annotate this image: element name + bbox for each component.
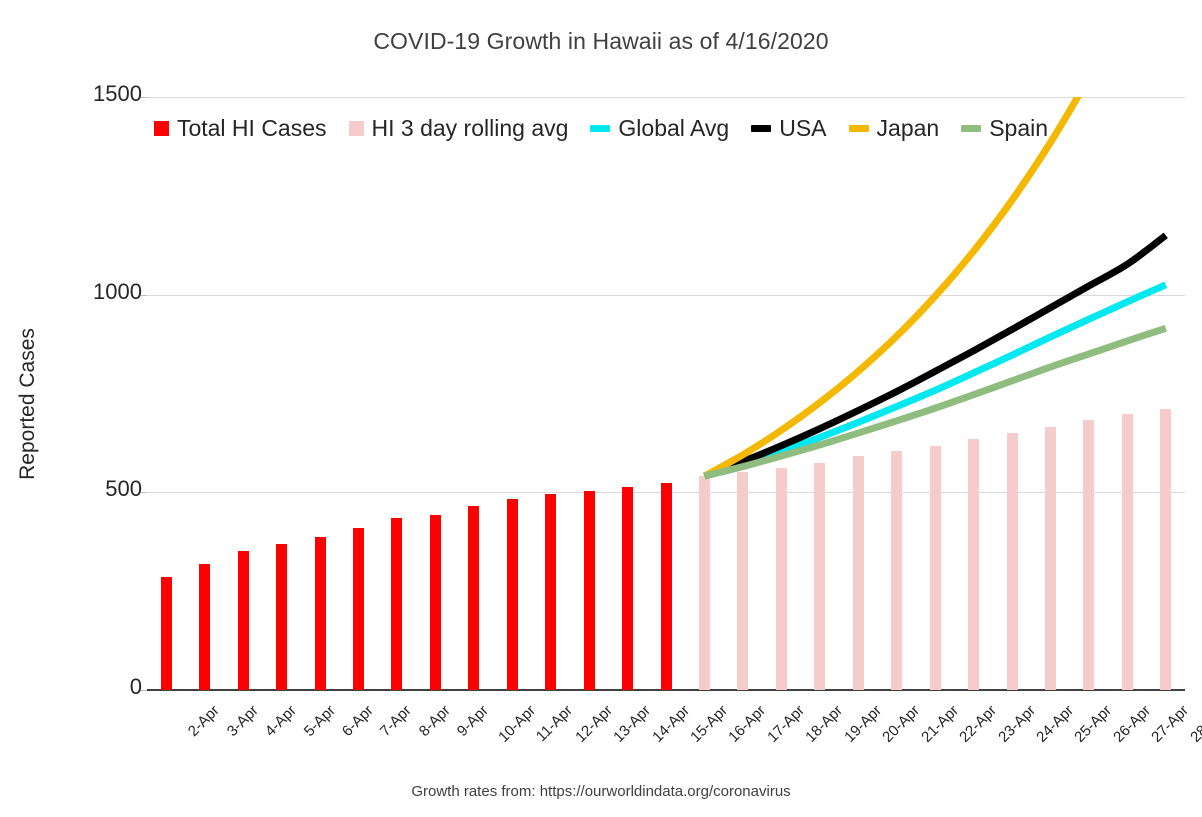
x-tick-label: 8-Apr <box>416 702 454 740</box>
y-tick-label: 1500 <box>42 83 142 105</box>
x-tick-label: 28-Apr <box>1187 702 1202 746</box>
x-tick-label: 10-Apr <box>495 702 539 746</box>
x-tick-label: 11-Apr <box>533 702 576 745</box>
x-tick-label: 19-Apr <box>841 702 885 746</box>
x-tick-label: 18-Apr <box>803 702 847 746</box>
chart-title: COVID-19 Growth in Hawaii as of 4/16/202… <box>0 28 1202 55</box>
x-tick-label: 4-Apr <box>262 702 300 740</box>
x-tick-label: 24-Apr <box>1033 702 1077 746</box>
projection-curves <box>147 90 1197 700</box>
x-tick-label: 9-Apr <box>454 702 492 740</box>
x-tick-label: 6-Apr <box>339 702 377 740</box>
x-tick-label: 27-Apr <box>1149 702 1193 746</box>
y-tick-label: 500 <box>42 478 142 500</box>
x-tick-label: 5-Apr <box>300 702 338 740</box>
line-series <box>704 235 1165 476</box>
x-tick-label: 25-Apr <box>1072 702 1116 746</box>
x-tick-label: 14-Apr <box>649 702 693 746</box>
x-tick-label: 7-Apr <box>377 702 415 740</box>
y-tick-label: 1000 <box>42 281 142 303</box>
chart-footnote: Growth rates from: https://ourworldindat… <box>0 783 1202 800</box>
chart-container: COVID-19 Growth in Hawaii as of 4/16/202… <box>0 0 1202 817</box>
x-tick-label: 20-Apr <box>879 702 923 746</box>
x-tick-label: 13-Apr <box>610 702 654 746</box>
x-tick-label: 17-Apr <box>764 702 808 746</box>
x-tick-label: 3-Apr <box>223 702 261 740</box>
x-tick-label: 16-Apr <box>726 702 770 746</box>
x-tick-label: 21-Apr <box>918 702 962 746</box>
x-tick-label: 12-Apr <box>572 702 616 746</box>
x-tick-label: 2-Apr <box>185 702 223 740</box>
x-tick-label: 26-Apr <box>1110 702 1154 746</box>
x-axis-tick-labels: 2-Apr3-Apr4-Apr5-Apr6-Apr7-Apr8-Apr9-Apr… <box>0 690 1202 770</box>
x-tick-label: 22-Apr <box>956 702 1000 746</box>
x-tick-label: 15-Apr <box>687 702 731 746</box>
x-tick-label: 23-Apr <box>995 702 1039 746</box>
